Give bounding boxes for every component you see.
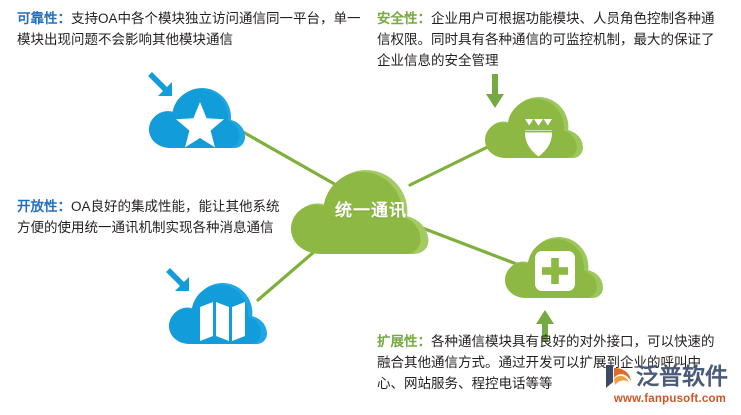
node-security[interactable] [478,72,608,167]
watermark: 泛普软件 www.fanpusoft.com [604,360,736,410]
cloud-map-icon [169,283,267,344]
keyword-extensibility: 扩展性： [377,334,431,349]
cloud-plus-icon [505,237,603,298]
keyword-security: 安全性： [377,11,431,26]
cloud-shield-icon [485,97,583,158]
keyword-reliability: 可靠性： [17,11,71,26]
text-block-openness: 开放性：OA良好的集成性能，能让其他系统方便的使用统一通讯机制实现各种消息通信 [17,196,289,238]
node-reliability[interactable] [138,68,258,158]
cloud-icon [281,144,461,259]
plus-glyph [535,251,575,291]
cloud-star-icon [149,88,245,148]
fanpu-logo-icon [604,362,633,391]
text-block-security: 安全性：企业用户可根据功能模块、人员角色控制各种通信权限。同时具有各种通信的可监… [377,8,727,71]
node-openness[interactable] [158,258,283,353]
keyword-openness: 开放性： [17,199,71,214]
diagram-canvas: 统一通讯 可靠性：支持OA中各个模块独立访问通信同一平台，单一模块出现问题不会影… [0,0,741,415]
arrow-down-icon [486,74,504,108]
watermark-brand: 泛普软件 [636,363,728,389]
center-node-unified-communication[interactable]: 统一通讯 [281,144,461,259]
text-block-reliability: 可靠性：支持OA中各个模块独立访问通信同一平台，单一模块出现问题不会影响其他模块… [17,8,362,50]
map-glyph [200,302,245,341]
watermark-url: www.fanpusoft.com [604,393,736,405]
